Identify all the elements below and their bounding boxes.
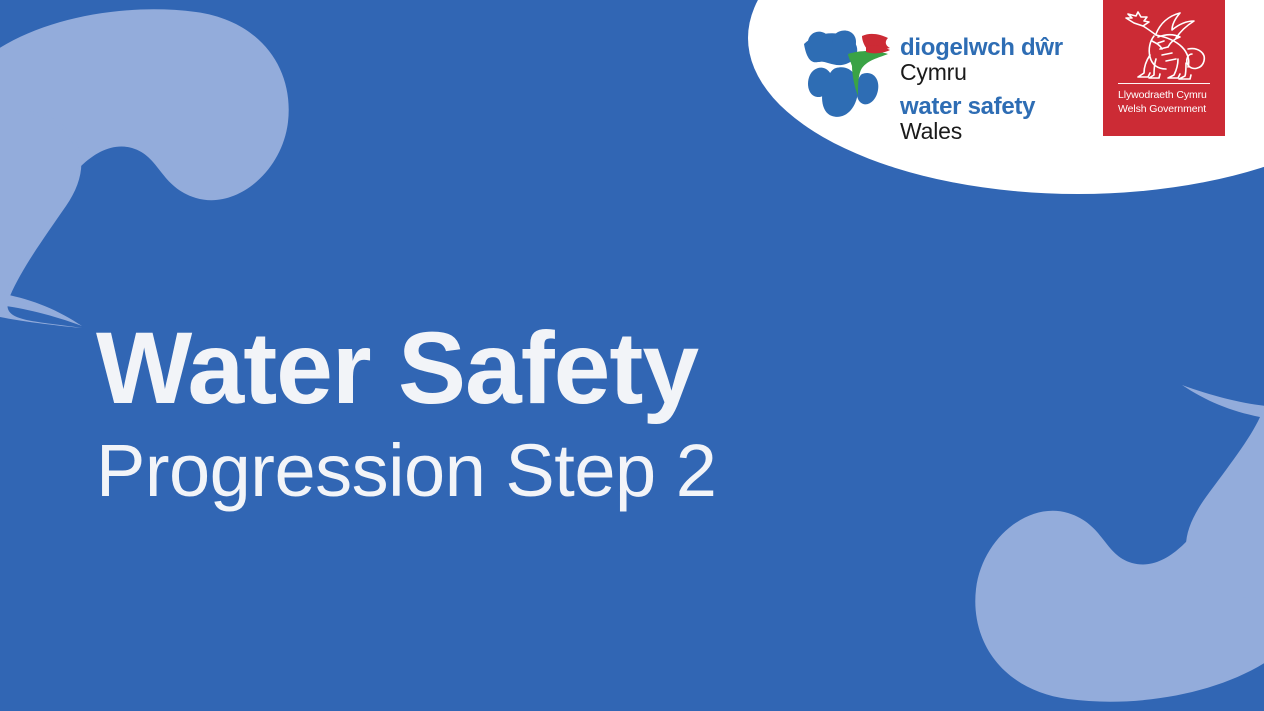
slide-canvas: diogelwch dŵr Cymru water safety Wales [0,0,1264,711]
welsh-government-wordmark: Llywodraeth Cymru Welsh Government [1118,89,1210,117]
welsh-dragon-icon [1116,7,1212,81]
logo-line-english-regular: Wales [900,120,1063,143]
wave-swoosh-top-left [0,0,316,320]
page-title: Water Safety [96,316,716,420]
welsh-government-logo: Llywodraeth Cymru Welsh Government [1103,0,1225,136]
water-safety-wales-logo: diogelwch dŵr Cymru water safety Wales [800,24,1063,143]
logo-line-english-bold: water safety [900,95,1063,119]
welsh-government-divider [1118,83,1210,84]
page-subtitle: Progression Step 2 [96,432,716,510]
logo-line-welsh-regular: Cymru [900,61,1063,84]
logo-line-welsh-bold: diogelwch dŵr [900,36,1063,60]
welsh-government-line-welsh: Llywodraeth Cymru [1118,89,1210,103]
water-safety-wales-mark-icon [800,24,892,124]
title-group: Water Safety Progression Step 2 [96,316,716,510]
welsh-government-line-english: Welsh Government [1118,103,1210,117]
water-safety-wales-wordmark: diogelwch dŵr Cymru water safety Wales [900,24,1063,143]
